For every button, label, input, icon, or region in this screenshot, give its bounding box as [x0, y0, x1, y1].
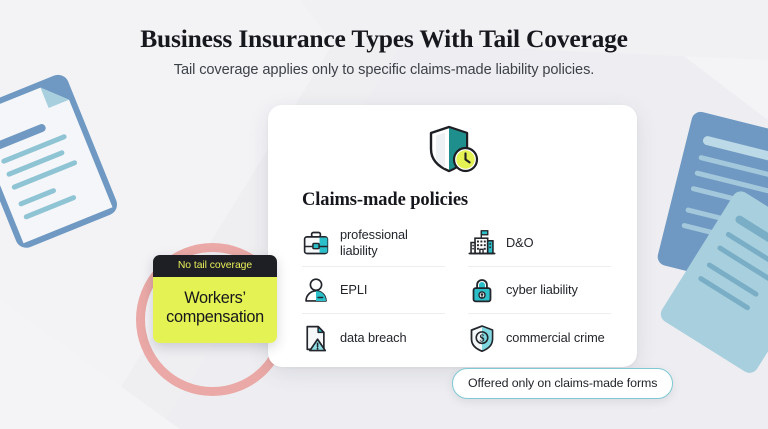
page-subtitle: Tail coverage applies only to specific c… [0, 62, 768, 78]
claims-made-forms-badge: Offered only on claims-made forms [452, 368, 673, 399]
policy-item-do[interactable]: D&O [468, 220, 611, 267]
policy-item-data-breach[interactable]: data breach [302, 314, 445, 361]
policy-item-label: commercial crime [506, 330, 605, 346]
callout-header-label: No tail coverage [153, 255, 277, 277]
person-icon [302, 276, 330, 304]
page-title: Business Insurance Types With Tail Cover… [0, 24, 768, 53]
document-warning-icon [302, 324, 330, 352]
svg-text:$: $ [479, 333, 484, 344]
workers-compensation-callout[interactable]: No tail coverage Workers’ compensation [153, 255, 277, 343]
shield-dollar-icon: $ [468, 324, 496, 352]
claims-made-policies-card: Claims-made policies professional liabil… [268, 105, 637, 367]
policy-item-label: professional liability [340, 227, 445, 258]
office-building-icon [468, 229, 496, 257]
policy-item-label: D&O [506, 235, 533, 251]
card-hero-icon-wrapper [294, 124, 611, 176]
page-header: Business Insurance Types With Tail Cover… [0, 24, 768, 78]
policy-item-label: data breach [340, 330, 407, 346]
briefcase-icon [302, 229, 330, 257]
policy-item-label: cyber liability [506, 282, 578, 298]
padlock-icon [468, 276, 496, 304]
policy-item-professional-liability[interactable]: professional liability [302, 220, 445, 267]
policy-item-label: EPLI [340, 282, 367, 298]
callout-body-label: Workers’ compensation [153, 277, 277, 343]
policy-item-cyber-liability[interactable]: cyber liability [468, 267, 611, 314]
card-title: Claims-made policies [302, 190, 611, 211]
policy-item-epli[interactable]: EPLI [302, 267, 445, 314]
policy-type-grid: professional liability D&O [302, 220, 611, 361]
shield-clock-icon [425, 124, 481, 176]
policy-item-commercial-crime[interactable]: $ commercial crime [468, 314, 611, 361]
